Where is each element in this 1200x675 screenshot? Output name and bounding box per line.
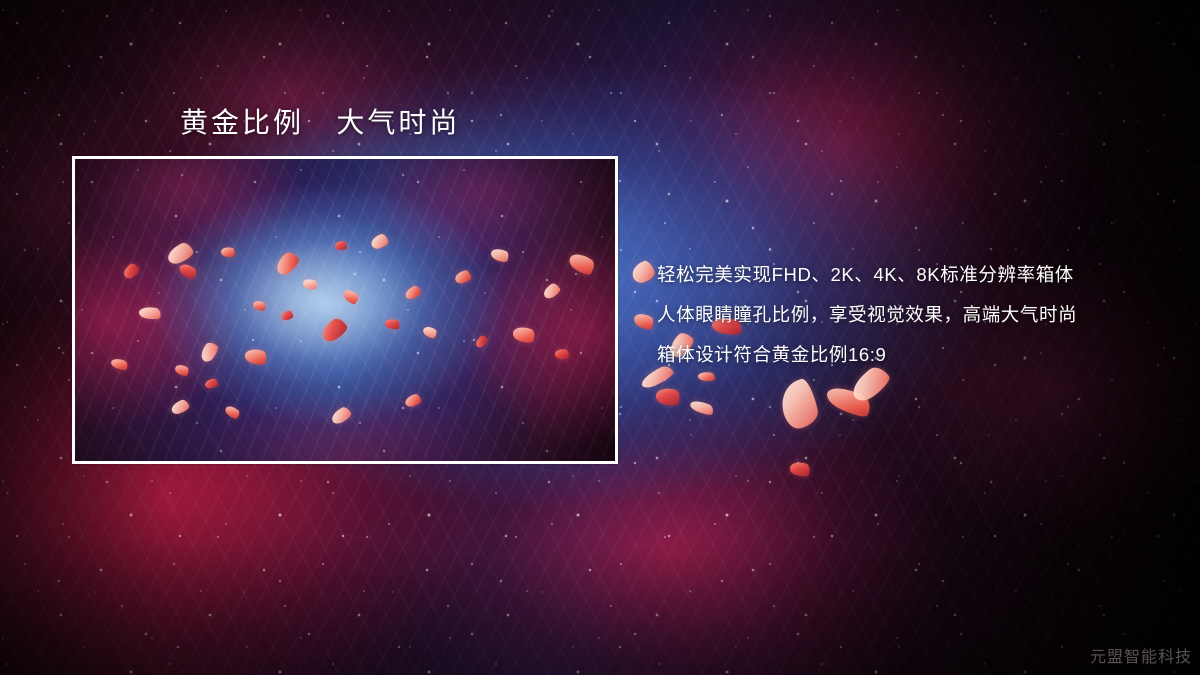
description-text-block: 轻松完美实现FHD、2K、4K、8K标准分辨率箱体 人体眼睛瞳孔比例，享受视觉效… [657,255,1157,375]
framed-photo [72,156,618,464]
petal [280,310,293,321]
petal [632,310,656,332]
petal [335,240,348,250]
petal [224,403,242,420]
petal [454,269,472,284]
petal [169,398,190,415]
petal [384,317,401,331]
page-title: 黄金比例 大气时尚 [180,101,460,141]
petal [404,393,422,408]
petal [177,261,199,282]
petal [474,334,490,349]
petal [404,284,423,300]
petal [302,277,319,291]
petal [165,240,196,266]
petal [110,356,130,372]
petal [566,249,597,278]
petal-group-photo [75,159,615,461]
petal [204,378,218,389]
petal [121,262,141,281]
petal [788,459,811,478]
petal [197,340,220,364]
petal [824,381,875,421]
petal [421,324,438,340]
description-line: 人体眼睛瞳孔比例，享受视觉效果，高端大气时尚 [657,295,1157,335]
description-line: 箱体设计符合黄金比例16:9 [657,335,1157,375]
petal [220,246,236,259]
petal [369,233,389,251]
petal [341,287,360,306]
petal [777,377,820,431]
petal [489,246,510,264]
petal [654,385,682,408]
petal [272,249,301,277]
petal [511,324,537,346]
description-line: 轻松完美实现FHD、2K、4K、8K标准分辨率箱体 [657,255,1157,295]
petal [629,259,657,285]
petal [318,315,350,344]
petal [138,305,162,321]
petal [689,398,715,417]
watermark: 元盟智能科技 [1090,643,1192,667]
petal [541,282,562,301]
petal [252,299,268,313]
petal [243,346,269,367]
petal [554,348,569,360]
petal [329,405,353,426]
petal [173,362,190,378]
presentation-slide: 黄金比例 大气时尚 轻松完美实现FHD、2K、4K、8K标准分辨率箱体 人体眼睛… [0,0,1200,675]
